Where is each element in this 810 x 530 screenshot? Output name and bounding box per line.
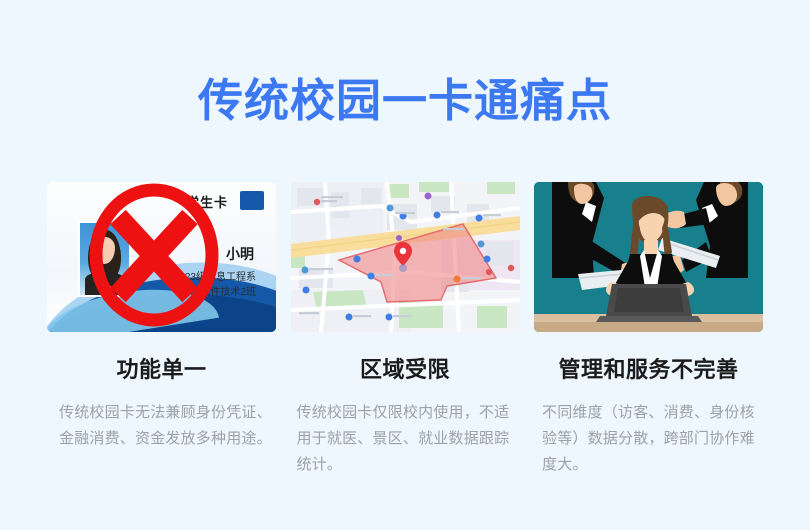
card-figure-office-staff xyxy=(534,182,763,332)
card-heading: 管理和服务不完善 xyxy=(534,352,763,384)
pain-point-card: 区域受限 传统校园卡仅限校内使用，不适用于就医、景区、就业数据跟踪统计。 xyxy=(291,182,520,478)
page-title: 传统校园一卡通痛点 xyxy=(0,76,810,126)
card-heading: 功能单一 xyxy=(47,352,276,384)
card-figure-map xyxy=(291,182,520,332)
student-name: 小明 xyxy=(226,244,254,264)
card-figure-student-card: 学生卡 小明 23级信息工程系 软件技术2班 xyxy=(47,182,276,332)
campus-map-illustration xyxy=(291,182,520,332)
card-body-text: 传统校园卡仅限校内使用，不适用于就医、景区、就业数据跟踪统计。 xyxy=(291,400,520,478)
office-staff-illustration xyxy=(534,182,763,332)
slide-root: 传统校园一卡通痛点 学生卡 小明 xyxy=(0,0,810,530)
card-body-text: 传统校园卡无法兼顾身份凭证、金融消费、资金发放多种用途。 xyxy=(47,400,276,452)
pain-point-card-list: 学生卡 小明 23级信息工程系 软件技术2班 xyxy=(47,182,763,478)
card-heading: 区域受限 xyxy=(291,352,520,384)
pain-point-card: 管理和服务不完善 不同维度（访客、消费、身份核验等）数据分散，跨部门协作难度大。 xyxy=(534,182,763,478)
card-chip-icon xyxy=(240,191,264,210)
card-body-text: 不同维度（访客、消费、身份核验等）数据分散，跨部门协作难度大。 xyxy=(534,400,763,478)
prohibition-cross-icon xyxy=(88,183,220,327)
pain-point-card: 学生卡 小明 23级信息工程系 软件技术2班 xyxy=(47,182,276,478)
